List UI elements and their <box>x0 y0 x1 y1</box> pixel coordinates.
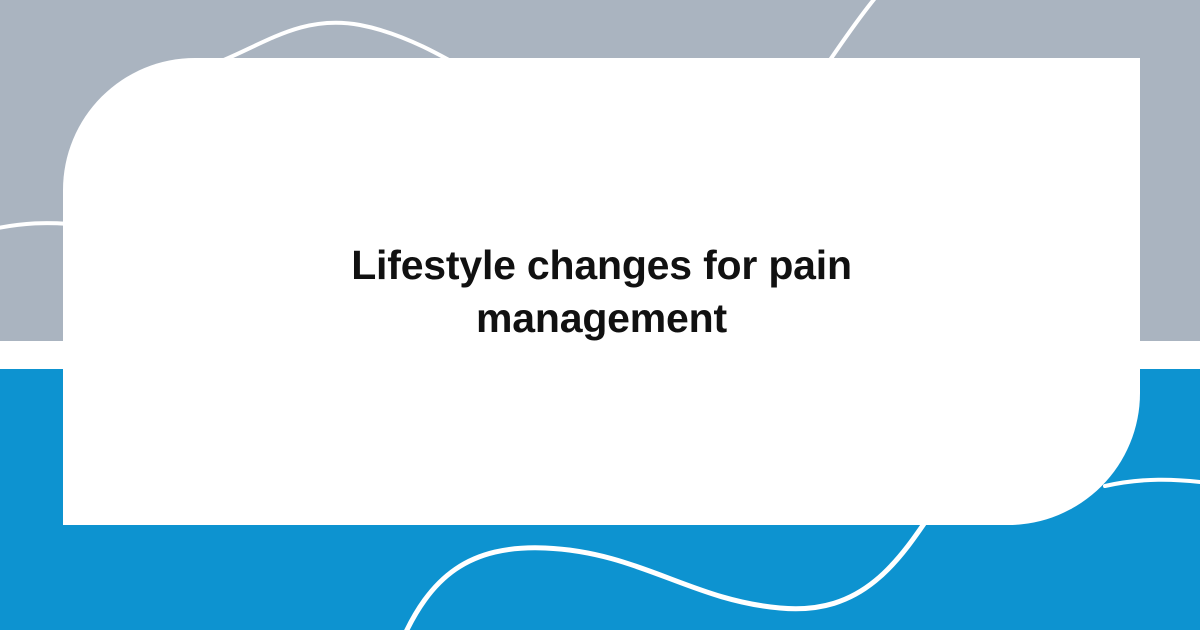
content-card-inner: Lifestyle changes for pain management <box>63 58 1140 525</box>
banner-graphic: Lifestyle changes for pain management <box>0 0 1200 630</box>
content-card: Lifestyle changes for pain management <box>63 58 1140 525</box>
page-title: Lifestyle changes for pain management <box>262 239 942 343</box>
